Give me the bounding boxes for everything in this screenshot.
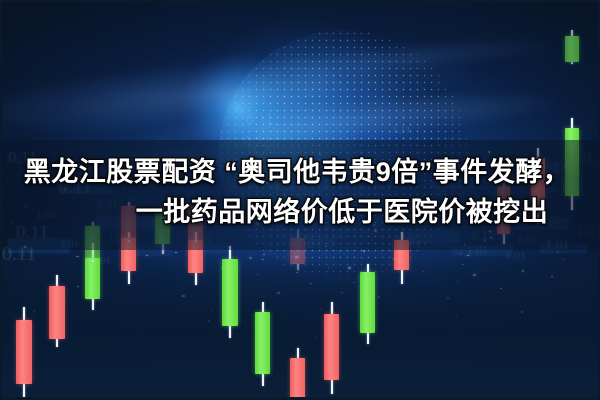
headline-line-2: 一批药品网络价低于医院价被挖出 [0,192,600,232]
candlestick-body [222,259,238,326]
candlestick-body [16,320,32,384]
candlestick-body [360,272,375,333]
candlestick-body [255,312,270,374]
candlestick-body [49,286,65,339]
candlestick-body [324,314,339,380]
candlestick-body [565,36,579,62]
banner-image: 0.110.111.010.110.111.011.010.211.010.41… [0,0,600,400]
headline: 黑龙江股票配资 “奥司他韦贵9倍”事件发酵， 一批药品网络价低于医院价被挖出 [0,152,600,232]
frame-edge-top [0,0,600,2]
headline-line-1: 黑龙江股票配资 “奥司他韦贵9倍”事件发酵， [0,152,600,192]
